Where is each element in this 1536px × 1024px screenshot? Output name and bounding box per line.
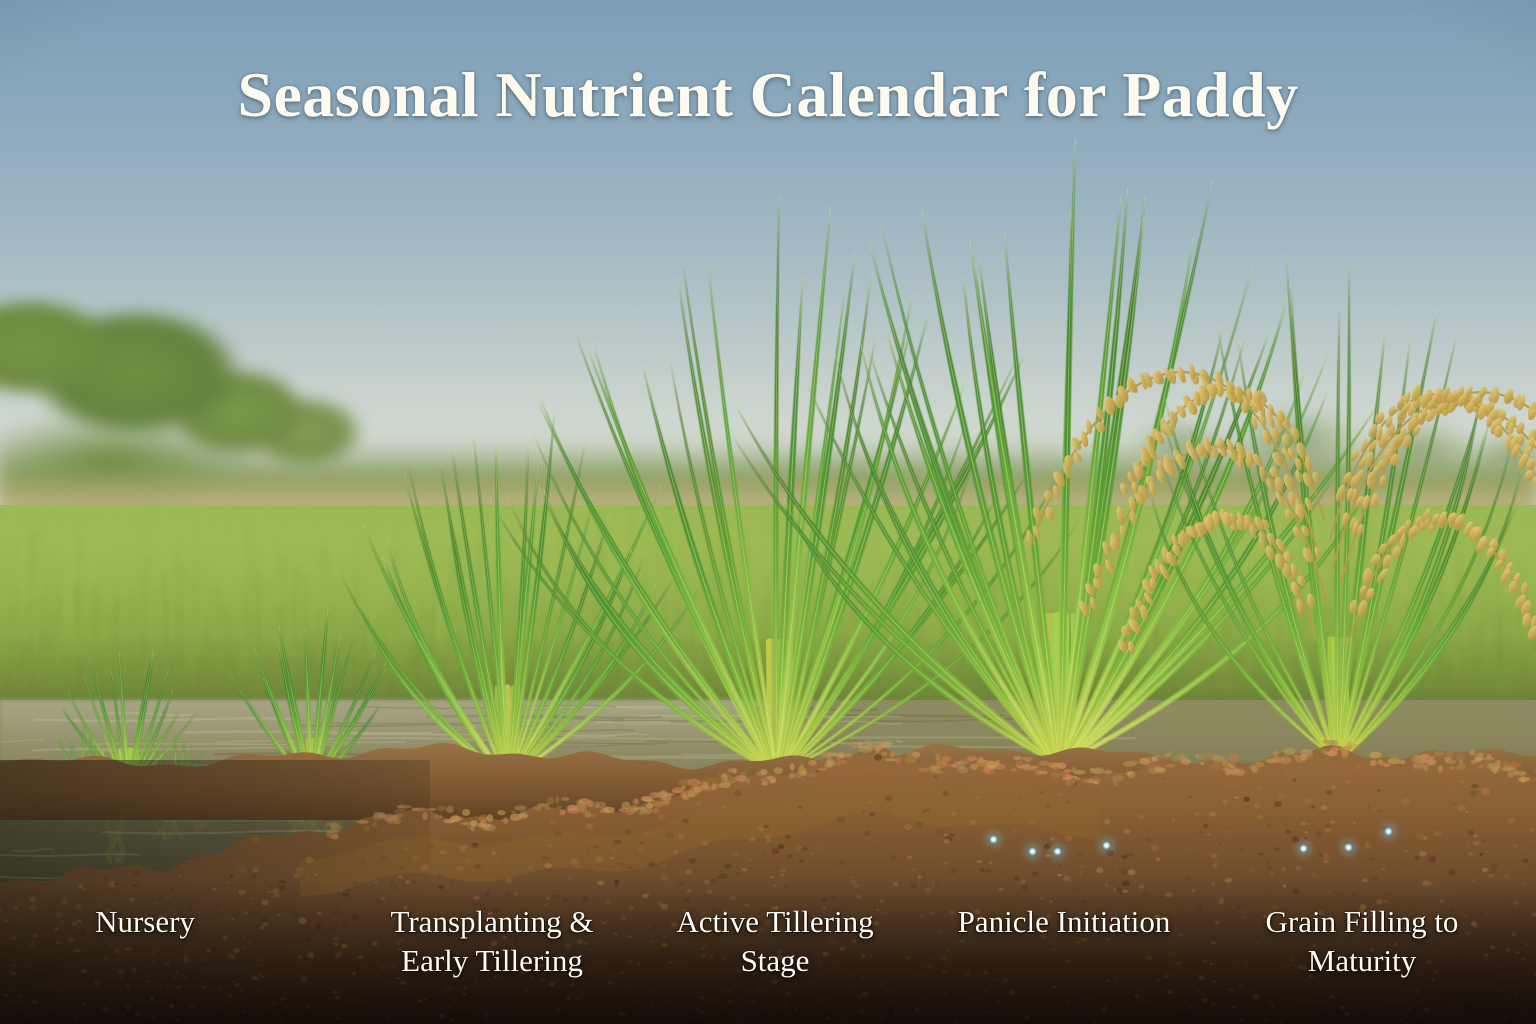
page-title: Seasonal Nutrient Calendar for Paddy [0,58,1536,132]
paddy-calendar-image: Seasonal Nutrient Calendar for Paddy Nur… [0,0,1536,1024]
left-shadow-gradient [0,760,430,1024]
